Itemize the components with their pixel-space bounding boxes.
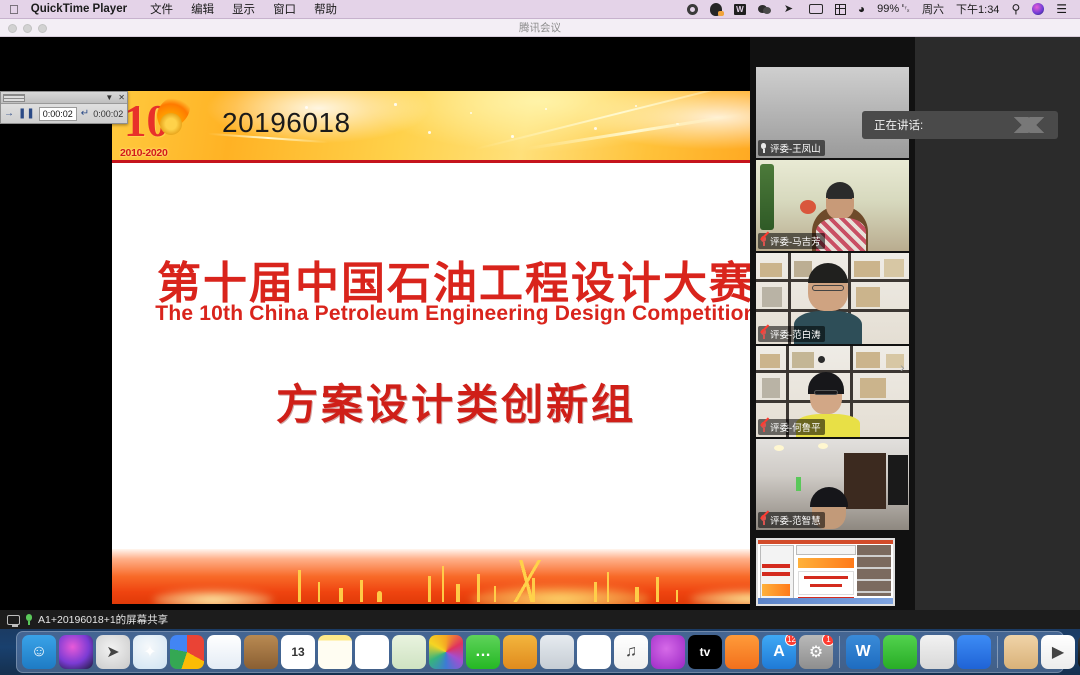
messages-icon: … [475, 643, 491, 661]
menu-item-help[interactable]: 帮助 [305, 1, 346, 17]
quicktime-widget-transport: → ❚❚ 0:00:02 ↵ 0:00:02 [1, 104, 127, 123]
dock-item-contacts[interactable] [244, 635, 278, 669]
dock-item-apple-tv[interactable]: tv [688, 635, 722, 669]
participant-tile-5[interactable]: 评委-范智慧 [756, 439, 909, 530]
apple-icon[interactable]:  [9, 3, 19, 16]
mic-icon [760, 143, 767, 153]
menu-item-view[interactable]: 显示 [223, 1, 264, 17]
participant-name-badge-1: 评委-王凤山 [758, 140, 825, 156]
finder-icon: ☺ [31, 643, 47, 661]
logo-seal-icon [160, 113, 182, 135]
dock-item-safari[interactable]: ✦ [133, 635, 167, 669]
slide-subtitle-cn: 方案设计类创新组 [112, 371, 800, 432]
quicktime-widget-controls: ▼ ✕ [105, 93, 125, 102]
participant-name-2: 评委-马吉芳 [770, 234, 821, 248]
battery-status[interactable]: 99% ␃ [871, 0, 916, 19]
dock-item-app-store[interactable]: A12 [762, 635, 796, 669]
shared-screen-stage: 10 2010-2020 20196018 第十届中国石油工程设计大赛 The … [0, 37, 915, 610]
slide-title-en: The 10th China Petroleum Engineering Des… [112, 302, 800, 326]
dock-item-podcasts[interactable] [651, 635, 685, 669]
window-traffic-lights [8, 24, 47, 33]
video-player-icon: ▶ [1052, 642, 1064, 662]
battery-percent-label: 99% [877, 3, 899, 15]
collapse-panel-arrow-icon[interactable]: › [900, 359, 905, 375]
menu-app-name[interactable]: QuickTime Player [31, 3, 141, 15]
advance-arrow-icon[interactable]: → [4, 109, 14, 119]
undo-arrow-icon[interactable]: ↵ [81, 109, 89, 119]
close-button[interactable] [8, 24, 17, 33]
dock-badge: 12 [785, 635, 796, 646]
quicktime-widget-titlebar[interactable]: ▼ ✕ [1, 92, 127, 104]
mic-icon[interactable] [25, 614, 33, 625]
dock-item-downloads[interactable] [1004, 635, 1038, 669]
airplay-icon[interactable] [803, 0, 829, 19]
screen-share-icon [7, 615, 20, 625]
dock-item-mail[interactable] [503, 635, 537, 669]
participant-tile-2[interactable]: 评委-马吉芳 [756, 160, 909, 251]
dock-item-chrome[interactable] [170, 635, 204, 669]
qq-icon[interactable] [704, 0, 728, 19]
dock-item-finder[interactable]: ☺ [22, 635, 56, 669]
slide-footer-skyline [112, 549, 800, 604]
wechat-icon[interactable] [752, 0, 778, 19]
tencent-meeting-window: 腾讯会议 [0, 19, 1080, 629]
shared-slide: 10 2010-2020 20196018 第十届中国石油工程设计大赛 The … [112, 91, 800, 604]
dock-item-reminders[interactable] [355, 635, 389, 669]
participant-name-badge-2: 评委-马吉芳 [758, 233, 825, 249]
meeting-body: 10 2010-2020 20196018 第十届中国石油工程设计大赛 The … [0, 37, 1080, 629]
competition-logo: 10 2010-2020 [120, 97, 202, 159]
dock-item-qq[interactable] [920, 635, 954, 669]
dock-badge: 1 [822, 635, 833, 646]
menu-bar-left:  QuickTime Player 文件 编辑 显示 窗口 帮助 [0, 1, 346, 17]
participant-name-4: 评委-何鲁平 [770, 420, 821, 434]
record-icon[interactable] [681, 0, 704, 19]
input-method-icon[interactable] [829, 0, 852, 19]
slide-header-banner: 10 2010-2020 20196018 [112, 91, 800, 163]
siri-icon[interactable] [1026, 0, 1050, 19]
control-center-icon[interactable]: ☰ [1050, 0, 1073, 19]
pause-icon[interactable]: ❚❚ [18, 109, 35, 119]
window-title: 腾讯会议 [519, 20, 561, 35]
battery-charging-icon: ␃ [901, 3, 910, 16]
wifi-icon[interactable]: ◕ [852, 0, 871, 19]
participant-name-badge-5: 评委-范智慧 [758, 512, 825, 528]
elapsed-time: 0:00:02 [39, 107, 77, 121]
wps-icon[interactable]: W [728, 0, 752, 19]
menu-item-file[interactable]: 文件 [141, 1, 182, 17]
menu-bar-day[interactable]: 周六 [916, 0, 950, 19]
dock-separator [839, 636, 840, 668]
screen:  QuickTime Player 文件 编辑 显示 窗口 帮助 W ➤ ◕ … [0, 0, 1080, 675]
dock-separator [997, 636, 998, 668]
remaining-time: 0:00:02 [93, 109, 123, 119]
minimize-button[interactable] [23, 24, 32, 33]
dock-item-wps-office[interactable]: W [846, 635, 880, 669]
close-icon[interactable]: ✕ [118, 93, 125, 102]
participant-name-5: 评委-范智慧 [770, 513, 821, 527]
mic-muted-icon [760, 422, 767, 432]
slide-main-area: 第十届中国石油工程设计大赛 The 10th China Petroleum E… [112, 163, 800, 549]
participant-name-1: 评委-王凤山 [770, 141, 821, 155]
dock-item-notes[interactable] [318, 635, 352, 669]
self-view-thumbnail[interactable] [756, 538, 895, 606]
music-icon: ♫ [625, 643, 637, 661]
search-icon[interactable]: ⚲ [1005, 0, 1026, 19]
dock-item-maps[interactable] [392, 635, 426, 669]
menu-item-window[interactable]: 窗口 [264, 1, 305, 17]
screen-share-status-bar: A1+20196018+1的屏幕共享 [0, 610, 1080, 629]
mic-muted-icon [760, 515, 767, 525]
dock-item-keynote[interactable] [540, 635, 574, 669]
participant-tile-3[interactable]: 评委-范白涛 [756, 253, 909, 344]
mic-muted-icon [760, 329, 767, 339]
participant-name-badge-3: 评委-范白涛 [758, 326, 825, 342]
grip-icon[interactable] [3, 94, 25, 102]
window-title-bar: 腾讯会议 [0, 19, 1080, 37]
mic-muted-icon [760, 236, 767, 246]
chevron-down-icon[interactable]: ▼ [105, 93, 113, 102]
launchpad-icon: ➤ [106, 642, 119, 662]
safari-icon: ✦ [143, 642, 156, 662]
calendar-icon: 13 [291, 645, 304, 659]
participant-name-3: 评委-范白涛 [770, 327, 821, 341]
dock-item-siri[interactable] [59, 635, 93, 669]
speaking-label: 正在讲话: [874, 117, 923, 133]
dock-item-wechat[interactable] [883, 635, 917, 669]
tencent-meeting-logo-icon [1002, 117, 1048, 133]
participant-name-badge-4: 评委-何鲁平 [758, 419, 825, 435]
menu-item-edit[interactable]: 编辑 [182, 1, 223, 17]
dock-item-books[interactable] [725, 635, 759, 669]
app-store-icon: A [773, 643, 785, 661]
system-preferences-icon: ⚙ [809, 642, 823, 662]
dock[interactable]: ☺➤✦13…♫tvA12⚙1W▶Q [16, 631, 1064, 673]
dock-item-messages[interactable]: … [466, 635, 500, 669]
zoom-button[interactable] [38, 24, 47, 33]
dock-item-numbers[interactable] [577, 635, 611, 669]
telegram-icon[interactable]: ➤ [778, 0, 803, 19]
logo-years-label: 2010-2020 [120, 147, 168, 159]
wps-office-icon: W [855, 643, 870, 661]
pumpjack-icon [504, 560, 550, 602]
dock-item-music[interactable]: ♫ [614, 635, 648, 669]
menu-bar:  QuickTime Player 文件 编辑 显示 窗口 帮助 W ➤ ◕ … [0, 0, 1080, 19]
dock-item-video-player[interactable]: ▶ [1041, 635, 1075, 669]
menu-bar-status-area: W ➤ ◕ 99% ␃ 周六 下午1:34 ⚲ ☰ [681, 0, 1080, 19]
slide-entry-code: 20196018 [222, 107, 351, 139]
menu-bar-clock[interactable]: 下午1:34 [950, 0, 1005, 19]
quicktime-recording-widget[interactable]: ▼ ✕ → ❚❚ 0:00:02 ↵ 0:00:02 [0, 91, 128, 124]
dock-item-calendar[interactable]: 13 [281, 635, 315, 669]
speaking-indicator: 正在讲话: [862, 111, 1058, 139]
dock-item-photos[interactable] [429, 635, 463, 669]
dock-item-preview[interactable] [207, 635, 241, 669]
participant-tile-4[interactable]: 评委-何鲁平 [756, 346, 909, 437]
dock-item-system-preferences[interactable]: ⚙1 [799, 635, 833, 669]
screen-share-label: A1+20196018+1的屏幕共享 [38, 612, 168, 627]
apple-tv-icon: tv [700, 645, 711, 659]
dock-item-launchpad[interactable]: ➤ [96, 635, 130, 669]
dock-item-tencent-meeting[interactable] [957, 635, 991, 669]
